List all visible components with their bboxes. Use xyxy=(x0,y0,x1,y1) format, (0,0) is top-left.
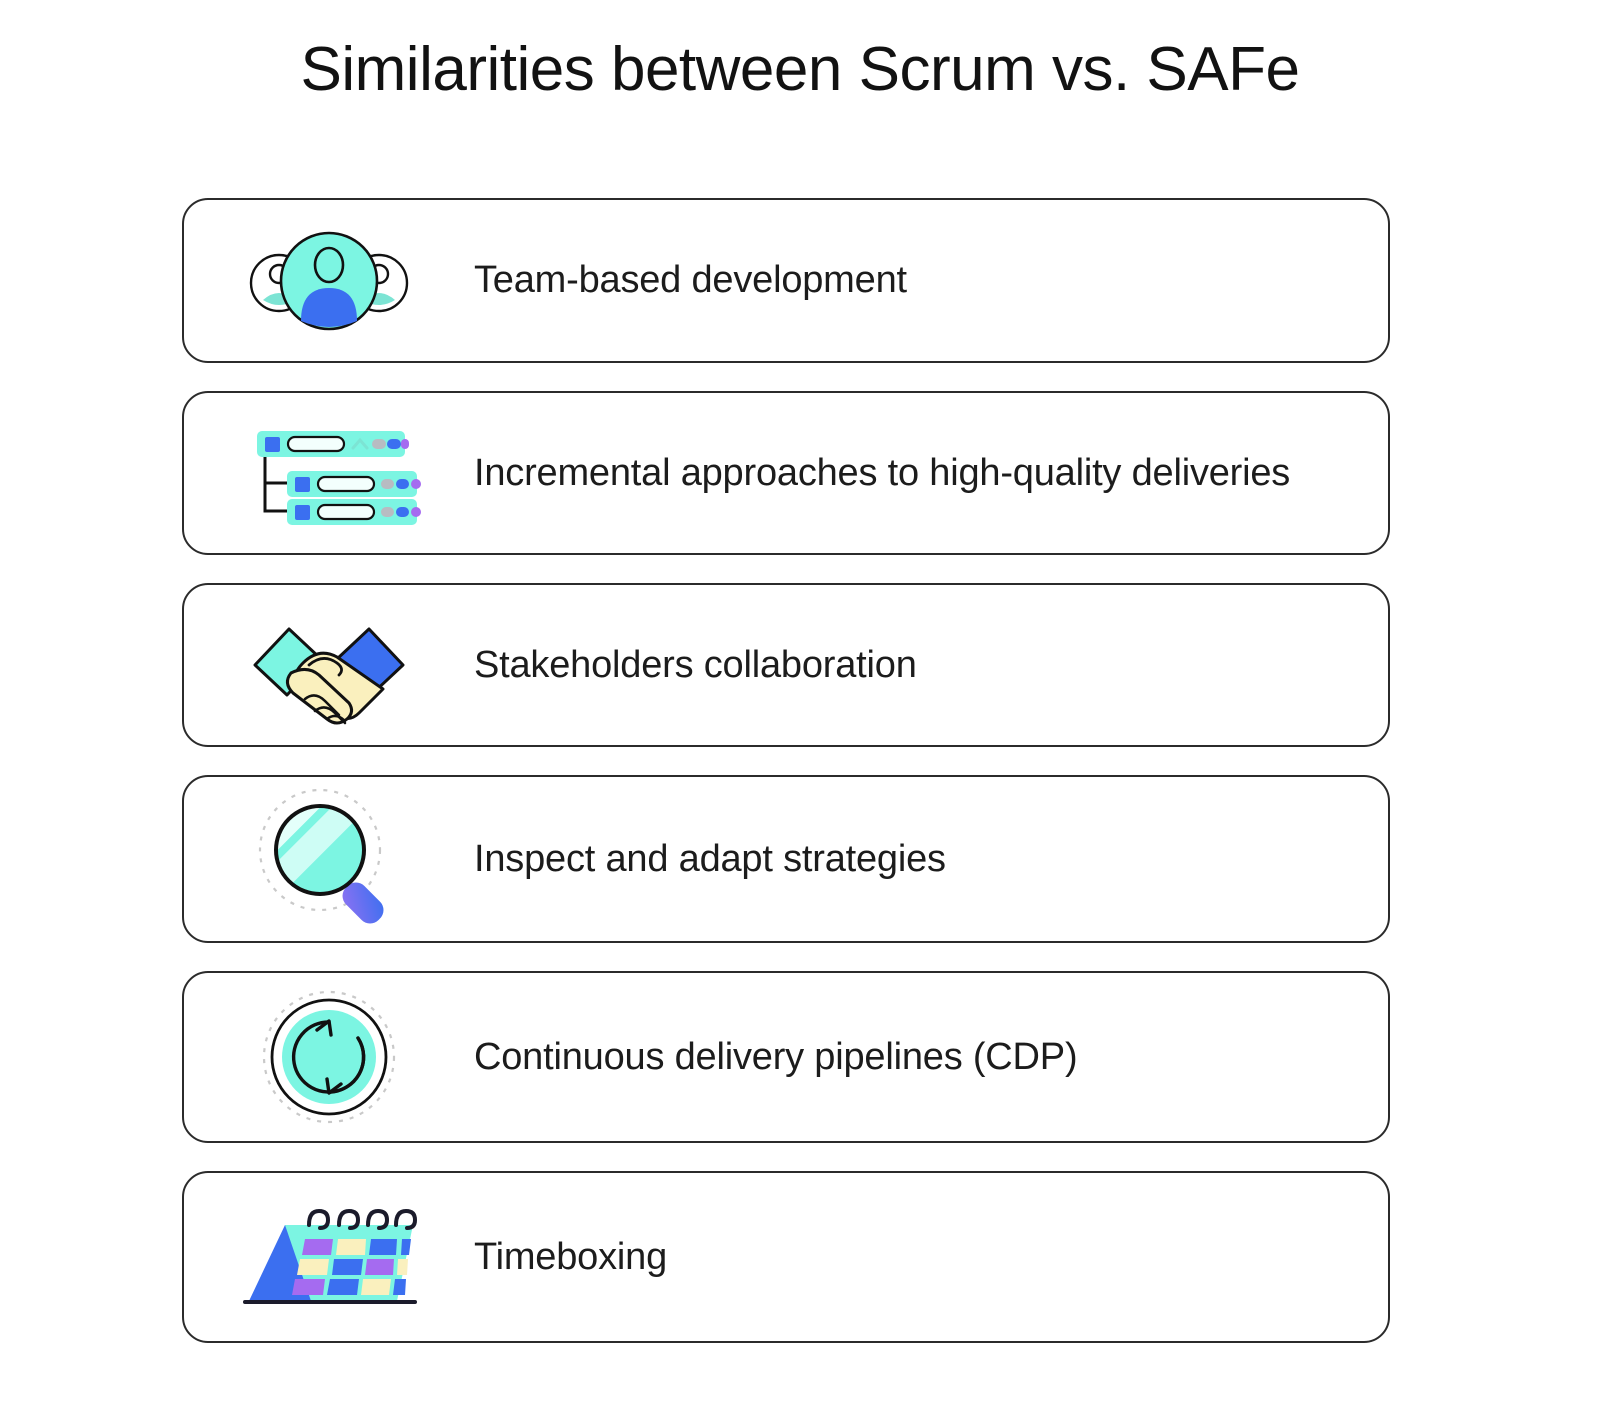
infographic-page: Similarities between Scrum vs. SAFe xyxy=(0,0,1600,1416)
card-label: Timeboxing xyxy=(474,1234,1388,1280)
task-list-icon xyxy=(184,393,474,553)
team-avatars-icon xyxy=(184,200,474,361)
similarities-card-list: Team-based development xyxy=(182,198,1390,1371)
calendar-icon xyxy=(184,1173,474,1341)
card-label: Continuous delivery pipelines (CDP) xyxy=(474,1034,1388,1080)
card-inspect-and-adapt[interactable]: Inspect and adapt strategies xyxy=(182,775,1390,943)
card-incremental-approaches[interactable]: Incremental approaches to high-quality d… xyxy=(182,391,1390,555)
refresh-cycle-icon xyxy=(184,973,474,1141)
magnifying-glass-icon xyxy=(184,777,474,941)
card-team-based-development[interactable]: Team-based development xyxy=(182,198,1390,363)
handshake-icon xyxy=(184,585,474,745)
page-title: Similarities between Scrum vs. SAFe xyxy=(0,34,1600,105)
card-stakeholders-collaboration[interactable]: Stakeholders collaboration xyxy=(182,583,1390,747)
card-continuous-delivery-pipelines[interactable]: Continuous delivery pipelines (CDP) xyxy=(182,971,1390,1143)
card-label: Stakeholders collaboration xyxy=(474,642,1388,688)
card-label: Inspect and adapt strategies xyxy=(474,836,1388,882)
card-label: Incremental approaches to high-quality d… xyxy=(474,450,1388,496)
card-timeboxing[interactable]: Timeboxing xyxy=(182,1171,1390,1343)
card-label: Team-based development xyxy=(474,257,1388,303)
